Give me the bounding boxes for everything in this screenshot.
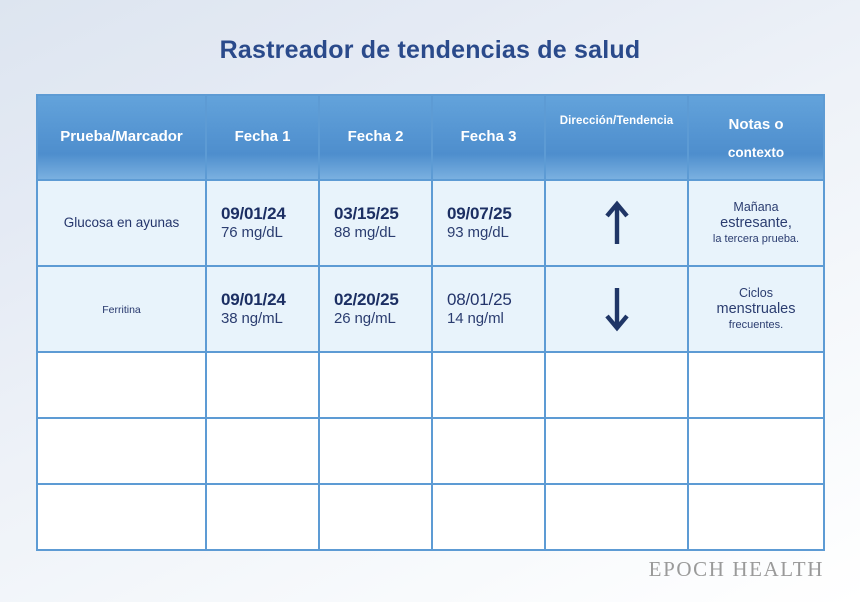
notes-line-2: estresante, bbox=[695, 215, 817, 233]
column-header-trend-label: Dirección/Tendencia bbox=[546, 96, 687, 127]
table-row-empty[interactable] bbox=[37, 418, 824, 484]
cell-date1-empty[interactable] bbox=[206, 418, 319, 484]
column-header-date1-label: Fecha 1 bbox=[207, 128, 318, 147]
column-header-date3-label: Fecha 3 bbox=[433, 128, 544, 147]
cell-trend-empty[interactable] bbox=[545, 484, 688, 550]
measurement-value: 93 mg/dL bbox=[447, 224, 544, 241]
cell-date2: 02/20/25 26 ng/mL bbox=[319, 266, 432, 352]
date-value-stack: 09/07/25 93 mg/dL bbox=[433, 204, 544, 241]
cell-date2-empty[interactable] bbox=[319, 484, 432, 550]
column-header-date3: Fecha 3 bbox=[432, 95, 545, 180]
table-row: Glucosa en ayunas 09/01/24 76 mg/dL 03/1… bbox=[37, 180, 824, 266]
column-header-trend: Dirección/Tendencia bbox=[545, 95, 688, 180]
cell-marker-empty[interactable] bbox=[37, 418, 206, 484]
column-header-marker: Prueba/Marcador bbox=[37, 95, 206, 180]
measurement-date: 09/01/24 bbox=[221, 290, 318, 310]
cell-date3: 08/01/25 14 ng/ml bbox=[432, 266, 545, 352]
column-header-notes-line2: contexto bbox=[689, 134, 823, 161]
measurement-value: 76 mg/dL bbox=[221, 224, 318, 241]
measurement-value: 88 mg/dL bbox=[334, 224, 431, 241]
table-row: Ferritina 09/01/24 38 ng/mL 02/20/25 26 … bbox=[37, 266, 824, 352]
cell-date3-empty[interactable] bbox=[432, 418, 545, 484]
cell-marker-empty[interactable] bbox=[37, 484, 206, 550]
column-header-date1: Fecha 1 bbox=[206, 95, 319, 180]
table-row-empty[interactable] bbox=[37, 352, 824, 418]
cell-date3: 09/07/25 93 mg/dL bbox=[432, 180, 545, 266]
cell-trend-empty[interactable] bbox=[545, 352, 688, 418]
column-header-date2-label: Fecha 2 bbox=[320, 128, 431, 147]
cell-date2-empty[interactable] bbox=[319, 352, 432, 418]
cell-date3-empty[interactable] bbox=[432, 352, 545, 418]
cell-trend bbox=[545, 180, 688, 266]
measurement-date: 08/01/25 bbox=[447, 290, 544, 310]
measurement-date: 09/01/24 bbox=[221, 204, 318, 224]
cell-date3-empty[interactable] bbox=[432, 484, 545, 550]
notes-line-1: Mañana bbox=[695, 200, 817, 215]
arrow-up-icon bbox=[604, 200, 630, 246]
measurement-date: 03/15/25 bbox=[334, 204, 431, 224]
health-trend-table: Prueba/Marcador Fecha 1 Fecha 2 Fecha 3 … bbox=[36, 94, 825, 551]
notes-line-3: frecuentes. bbox=[695, 319, 817, 332]
notes-line-2: menstruales bbox=[695, 301, 817, 319]
cell-trend bbox=[545, 266, 688, 352]
measurement-value: 38 ng/mL bbox=[221, 310, 318, 327]
cell-notes: Ciclos menstruales frecuentes. bbox=[688, 266, 824, 352]
notes-line-3: la tercera prueba. bbox=[695, 233, 817, 246]
column-header-date2: Fecha 2 bbox=[319, 95, 432, 180]
cell-date1: 09/01/24 38 ng/mL bbox=[206, 266, 319, 352]
cell-marker: Ferritina bbox=[37, 266, 206, 352]
notes-text: Ciclos menstruales frecuentes. bbox=[689, 286, 823, 332]
cell-trend-empty[interactable] bbox=[545, 418, 688, 484]
cell-notes: Mañana estresante, la tercera prueba. bbox=[688, 180, 824, 266]
column-header-notes: Notas o contexto bbox=[688, 95, 824, 180]
marker-label: Glucosa en ayunas bbox=[64, 215, 180, 230]
table-row-empty[interactable] bbox=[37, 484, 824, 550]
epoch-health-logo: EPOCH HEALTH bbox=[649, 557, 824, 582]
table-header-row: Prueba/Marcador Fecha 1 Fecha 2 Fecha 3 … bbox=[37, 95, 824, 180]
date-value-stack: 09/01/24 38 ng/mL bbox=[207, 290, 318, 327]
date-value-stack: 02/20/25 26 ng/mL bbox=[320, 290, 431, 327]
notes-line-1: Ciclos bbox=[695, 286, 817, 301]
column-header-marker-label: Prueba/Marcador bbox=[38, 128, 205, 147]
cell-date2: 03/15/25 88 mg/dL bbox=[319, 180, 432, 266]
cell-date1-empty[interactable] bbox=[206, 484, 319, 550]
date-value-stack: 09/01/24 76 mg/dL bbox=[207, 204, 318, 241]
cell-notes-empty[interactable] bbox=[688, 418, 824, 484]
measurement-date: 02/20/25 bbox=[334, 290, 431, 310]
cell-marker: Glucosa en ayunas bbox=[37, 180, 206, 266]
cell-date1-empty[interactable] bbox=[206, 352, 319, 418]
cell-notes-empty[interactable] bbox=[688, 484, 824, 550]
measurement-value: 26 ng/mL bbox=[334, 310, 431, 327]
cell-date1: 09/01/24 76 mg/dL bbox=[206, 180, 319, 266]
measurement-date: 09/07/25 bbox=[447, 204, 544, 224]
date-value-stack: 03/15/25 88 mg/dL bbox=[320, 204, 431, 241]
health-trend-table-wrapper: Prueba/Marcador Fecha 1 Fecha 2 Fecha 3 … bbox=[36, 94, 823, 551]
marker-label: Ferritina bbox=[102, 304, 141, 316]
column-header-notes-line1: Notas o bbox=[689, 114, 823, 134]
cell-date2-empty[interactable] bbox=[319, 418, 432, 484]
date-value-stack: 08/01/25 14 ng/ml bbox=[433, 290, 544, 327]
arrow-down-icon bbox=[604, 286, 630, 332]
page-title: Rastreador de tendencias de salud bbox=[0, 36, 860, 65]
measurement-value: 14 ng/ml bbox=[447, 310, 544, 327]
cell-notes-empty[interactable] bbox=[688, 352, 824, 418]
notes-text: Mañana estresante, la tercera prueba. bbox=[689, 200, 823, 246]
cell-marker-empty[interactable] bbox=[37, 352, 206, 418]
